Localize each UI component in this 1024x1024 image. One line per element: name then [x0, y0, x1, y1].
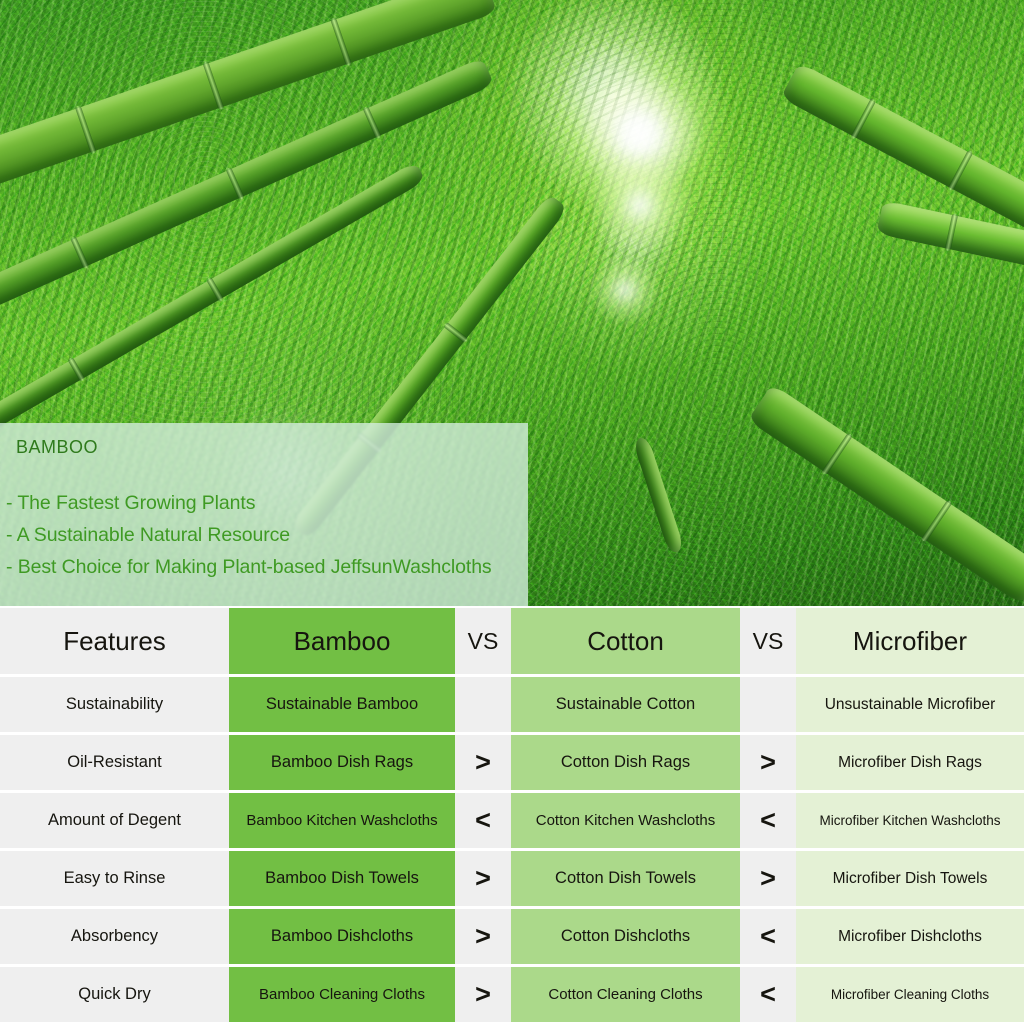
cotton-text: Cotton Kitchen Washcloths [532, 812, 720, 829]
row-microfiber-cell: Unsustainable Microfiber [796, 677, 1024, 732]
row-operator-1: < [455, 793, 511, 848]
row-cotton-cell: Cotton Kitchen Washcloths [511, 793, 740, 848]
operator-2-text: > [756, 747, 780, 778]
row-operator-2: > [740, 735, 796, 790]
sun-flare-secondary-icon [585, 150, 695, 260]
header-label-microfiber: Microfiber [849, 626, 971, 657]
operator-2-text: < [756, 921, 780, 952]
bamboo-text: Bamboo Dish Rags [267, 753, 417, 772]
row-cotton-cell: Cotton Dish Rags [511, 735, 740, 790]
bamboo-info-banner: BAMBOO - The Fastest Growing Plants - A … [0, 423, 528, 606]
row-microfiber-cell: Microfiber Dish Rags [796, 735, 1024, 790]
header-cell-microfiber: Microfiber [796, 608, 1024, 674]
feature-text: Quick Dry [74, 985, 154, 1004]
row-operator-1 [455, 677, 511, 732]
row-feature-label: Absorbency [0, 909, 229, 964]
operator-2-text: < [756, 805, 780, 836]
comparison-table: Features Bamboo VS Cotton VS Microfiber … [0, 608, 1024, 1024]
table-row: Absorbency Bamboo Dishcloths > Cotton Di… [0, 909, 1024, 964]
row-microfiber-cell: Microfiber Cleaning Cloths [796, 967, 1024, 1022]
row-operator-2: > [740, 851, 796, 906]
row-feature-label: Amount of Degent [0, 793, 229, 848]
row-feature-label: Sustainability [0, 677, 229, 732]
bamboo-text: Bamboo Dish Towels [261, 869, 423, 888]
banner-bullet-2: - A Sustainable Natural Resource [6, 520, 520, 552]
row-bamboo-cell: Bamboo Dish Towels [229, 851, 455, 906]
row-cotton-cell: Cotton Dish Towels [511, 851, 740, 906]
microfiber-text: Microfiber Dish Rags [834, 754, 986, 772]
row-microfiber-cell: Microfiber Dishcloths [796, 909, 1024, 964]
row-microfiber-cell: Microfiber Kitchen Washcloths [796, 793, 1024, 848]
header-cell-features: Features [0, 608, 229, 674]
feature-text: Absorbency [67, 927, 162, 946]
cotton-text: Cotton Dish Towels [551, 869, 700, 888]
sun-flare-tertiary-icon [590, 255, 660, 325]
cotton-text: Cotton Cleaning Cloths [544, 986, 706, 1003]
cotton-text: Sustainable Cotton [552, 695, 699, 714]
row-bamboo-cell: Bamboo Dish Rags [229, 735, 455, 790]
table-row: Quick Dry Bamboo Cleaning Cloths > Cotto… [0, 967, 1024, 1022]
microfiber-text: Unsustainable Microfiber [821, 696, 1000, 714]
microfiber-text: Microfiber Dishcloths [834, 928, 986, 946]
table-row: Amount of Degent Bamboo Kitchen Washclot… [0, 793, 1024, 848]
feature-text: Amount of Degent [44, 811, 185, 830]
operator-2-text: < [756, 979, 780, 1010]
feature-text: Oil-Resistant [63, 753, 165, 772]
header-cell-cotton: Cotton [511, 608, 740, 674]
row-cotton-cell: Cotton Dishcloths [511, 909, 740, 964]
row-bamboo-cell: Sustainable Bamboo [229, 677, 455, 732]
bamboo-text: Sustainable Bamboo [262, 695, 422, 714]
row-bamboo-cell: Bamboo Cleaning Cloths [229, 967, 455, 1022]
microfiber-text: Microfiber Kitchen Washcloths [815, 813, 1004, 828]
row-operator-1: > [455, 851, 511, 906]
row-bamboo-cell: Bamboo Kitchen Washcloths [229, 793, 455, 848]
header-cell-vs-2: VS [740, 608, 796, 674]
header-label-bamboo: Bamboo [290, 626, 395, 657]
row-microfiber-cell: Microfiber Dish Towels [796, 851, 1024, 906]
table-row: Oil-Resistant Bamboo Dish Rags > Cotton … [0, 735, 1024, 790]
operator-1-text: > [471, 863, 495, 894]
row-operator-1: > [455, 967, 511, 1022]
bamboo-text: Bamboo Kitchen Washcloths [242, 812, 441, 829]
header-cell-vs-1: VS [455, 608, 511, 674]
table-header-row: Features Bamboo VS Cotton VS Microfiber [0, 608, 1024, 674]
header-label-features: Features [59, 626, 170, 657]
table-row: Sustainability Sustainable Bamboo Sustai… [0, 677, 1024, 732]
row-operator-2: < [740, 909, 796, 964]
row-operator-1: > [455, 909, 511, 964]
row-cotton-cell: Sustainable Cotton [511, 677, 740, 732]
row-cotton-cell: Cotton Cleaning Cloths [511, 967, 740, 1022]
page-root: BAMBOO - The Fastest Growing Plants - A … [0, 0, 1024, 1024]
feature-text: Sustainability [62, 695, 167, 714]
row-bamboo-cell: Bamboo Dishcloths [229, 909, 455, 964]
header-label-vs-2: VS [749, 628, 788, 655]
row-operator-2 [740, 677, 796, 732]
header-label-vs-1: VS [464, 628, 503, 655]
row-operator-2: < [740, 967, 796, 1022]
microfiber-text: Microfiber Cleaning Cloths [827, 987, 993, 1002]
banner-title: BAMBOO [6, 437, 520, 458]
operator-1-text: > [471, 979, 495, 1010]
feature-text: Easy to Rinse [60, 869, 170, 888]
bamboo-text: Bamboo Cleaning Cloths [255, 986, 429, 1003]
header-cell-bamboo: Bamboo [229, 608, 455, 674]
microfiber-text: Microfiber Dish Towels [829, 870, 992, 888]
row-operator-1: > [455, 735, 511, 790]
cotton-text: Cotton Dishcloths [557, 927, 694, 946]
row-feature-label: Quick Dry [0, 967, 229, 1022]
header-label-cotton: Cotton [583, 626, 668, 657]
operator-1-text: < [471, 805, 495, 836]
cotton-text: Cotton Dish Rags [557, 753, 694, 772]
operator-1-text: > [471, 921, 495, 952]
banner-bullet-3: - Best Choice for Making Plant-based Jef… [6, 552, 520, 584]
banner-bullet-1: - The Fastest Growing Plants [6, 488, 520, 520]
row-operator-2: < [740, 793, 796, 848]
row-feature-label: Oil-Resistant [0, 735, 229, 790]
bamboo-forest-photo: BAMBOO - The Fastest Growing Plants - A … [0, 0, 1024, 606]
row-feature-label: Easy to Rinse [0, 851, 229, 906]
operator-2-text: > [756, 863, 780, 894]
bamboo-text: Bamboo Dishcloths [267, 927, 417, 946]
operator-1-text: > [471, 747, 495, 778]
table-row: Easy to Rinse Bamboo Dish Towels > Cotto… [0, 851, 1024, 906]
